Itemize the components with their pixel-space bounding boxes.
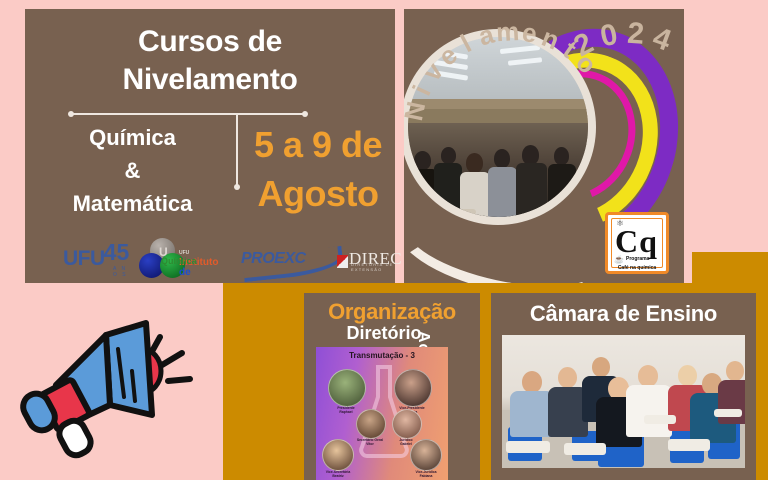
cq-symbol: Cq bbox=[615, 225, 658, 257]
ufu-logo-number: 45 bbox=[104, 239, 130, 266]
iq-logo-line4: Química bbox=[161, 256, 197, 266]
megaphone-icon bbox=[14, 297, 210, 469]
ufu-logo-word: UFU bbox=[63, 247, 105, 271]
ufu-45-anos-logo: UFU45 A N O S bbox=[63, 235, 130, 283]
date-month: Agosto bbox=[243, 170, 393, 219]
iq-logo-line3: de bbox=[179, 268, 218, 278]
coffee-cup-icon: ☕ bbox=[614, 255, 624, 264]
organizacao-panel: Organização Diretório Acadêmico & Transm… bbox=[304, 293, 480, 480]
member-photo bbox=[392, 409, 422, 439]
member-photo bbox=[322, 439, 354, 471]
arc-letter: a bbox=[475, 19, 497, 53]
cq-program-name: Café na química bbox=[608, 265, 666, 271]
transmutacao-title: Transmutação - 3 bbox=[316, 351, 448, 360]
camara-group-photo bbox=[502, 335, 745, 468]
arc-letter: l bbox=[456, 28, 477, 59]
member-photo bbox=[356, 409, 386, 439]
member-photo bbox=[328, 369, 366, 407]
member-label: Vice-JurídicaFabiana bbox=[404, 470, 448, 479]
date-range: 5 a 9 de bbox=[243, 121, 393, 170]
dates-block: 5 a 9 de Agosto bbox=[243, 121, 393, 218]
cafe-na-quimica-logo: ⚛ Cq ☕ Programa Café na química bbox=[605, 212, 669, 274]
member-label: Vice-SecretáriaBeatriz bbox=[316, 470, 360, 479]
sponsor-logos: UFU45 A N O S U UFU Instituto de Química bbox=[41, 235, 381, 283]
proexc-logo: PROEXC bbox=[241, 235, 341, 283]
member-photo bbox=[394, 369, 432, 407]
arc-letter: 4 bbox=[648, 21, 675, 59]
vertical-divider bbox=[236, 115, 238, 187]
arc-letter: N bbox=[404, 99, 432, 124]
member-photo bbox=[410, 439, 442, 471]
camara-de-ensino-panel: Câmara de Ensino bbox=[491, 293, 756, 480]
subject-mathematics: Matemática bbox=[35, 187, 230, 220]
instituto-de-quimica-logo: U UFU Instituto de Química bbox=[139, 235, 225, 283]
nivelamento-panel: Nivelamento 2024 ⚛ Cq ☕ Programa Café na… bbox=[404, 9, 684, 283]
horizontal-divider bbox=[70, 113, 306, 115]
organizacao-title: Organização bbox=[304, 299, 480, 325]
courses-title: Cursos de Nivelamento bbox=[25, 23, 395, 100]
courses-panel: Cursos de Nivelamento Química & Matemáti… bbox=[25, 9, 395, 283]
courses-title-line2: Nivelamento bbox=[25, 61, 395, 99]
arc-letter: i bbox=[406, 81, 437, 100]
courses-title-line1: Cursos de bbox=[25, 23, 395, 61]
subject-chemistry: Química bbox=[35, 121, 230, 154]
diretorio-subtitle: Diretório bbox=[304, 323, 464, 344]
arc-letter: e bbox=[520, 17, 539, 50]
arc-letter: m bbox=[495, 16, 520, 48]
year-arc: 2024 bbox=[554, 15, 684, 245]
arc-letter: 2 bbox=[569, 26, 600, 64]
arc-letter: 0 bbox=[597, 18, 620, 55]
poster-canvas: Cursos de Nivelamento Química & Matemáti… bbox=[0, 0, 768, 480]
subject-ampersand: & bbox=[35, 154, 230, 187]
direc-mark-icon bbox=[337, 255, 348, 268]
transmutacao-card: Transmutação - 3 PresidenteRaphael Vice-… bbox=[316, 347, 448, 480]
cq-program-label: Programa bbox=[626, 256, 649, 262]
subjects-block: Química & Matemática bbox=[35, 121, 230, 220]
ufu-logo-caption: A N O S bbox=[113, 266, 130, 278]
arc-letter: 2 bbox=[626, 17, 645, 52]
camara-title: Câmara de Ensino bbox=[491, 301, 756, 327]
